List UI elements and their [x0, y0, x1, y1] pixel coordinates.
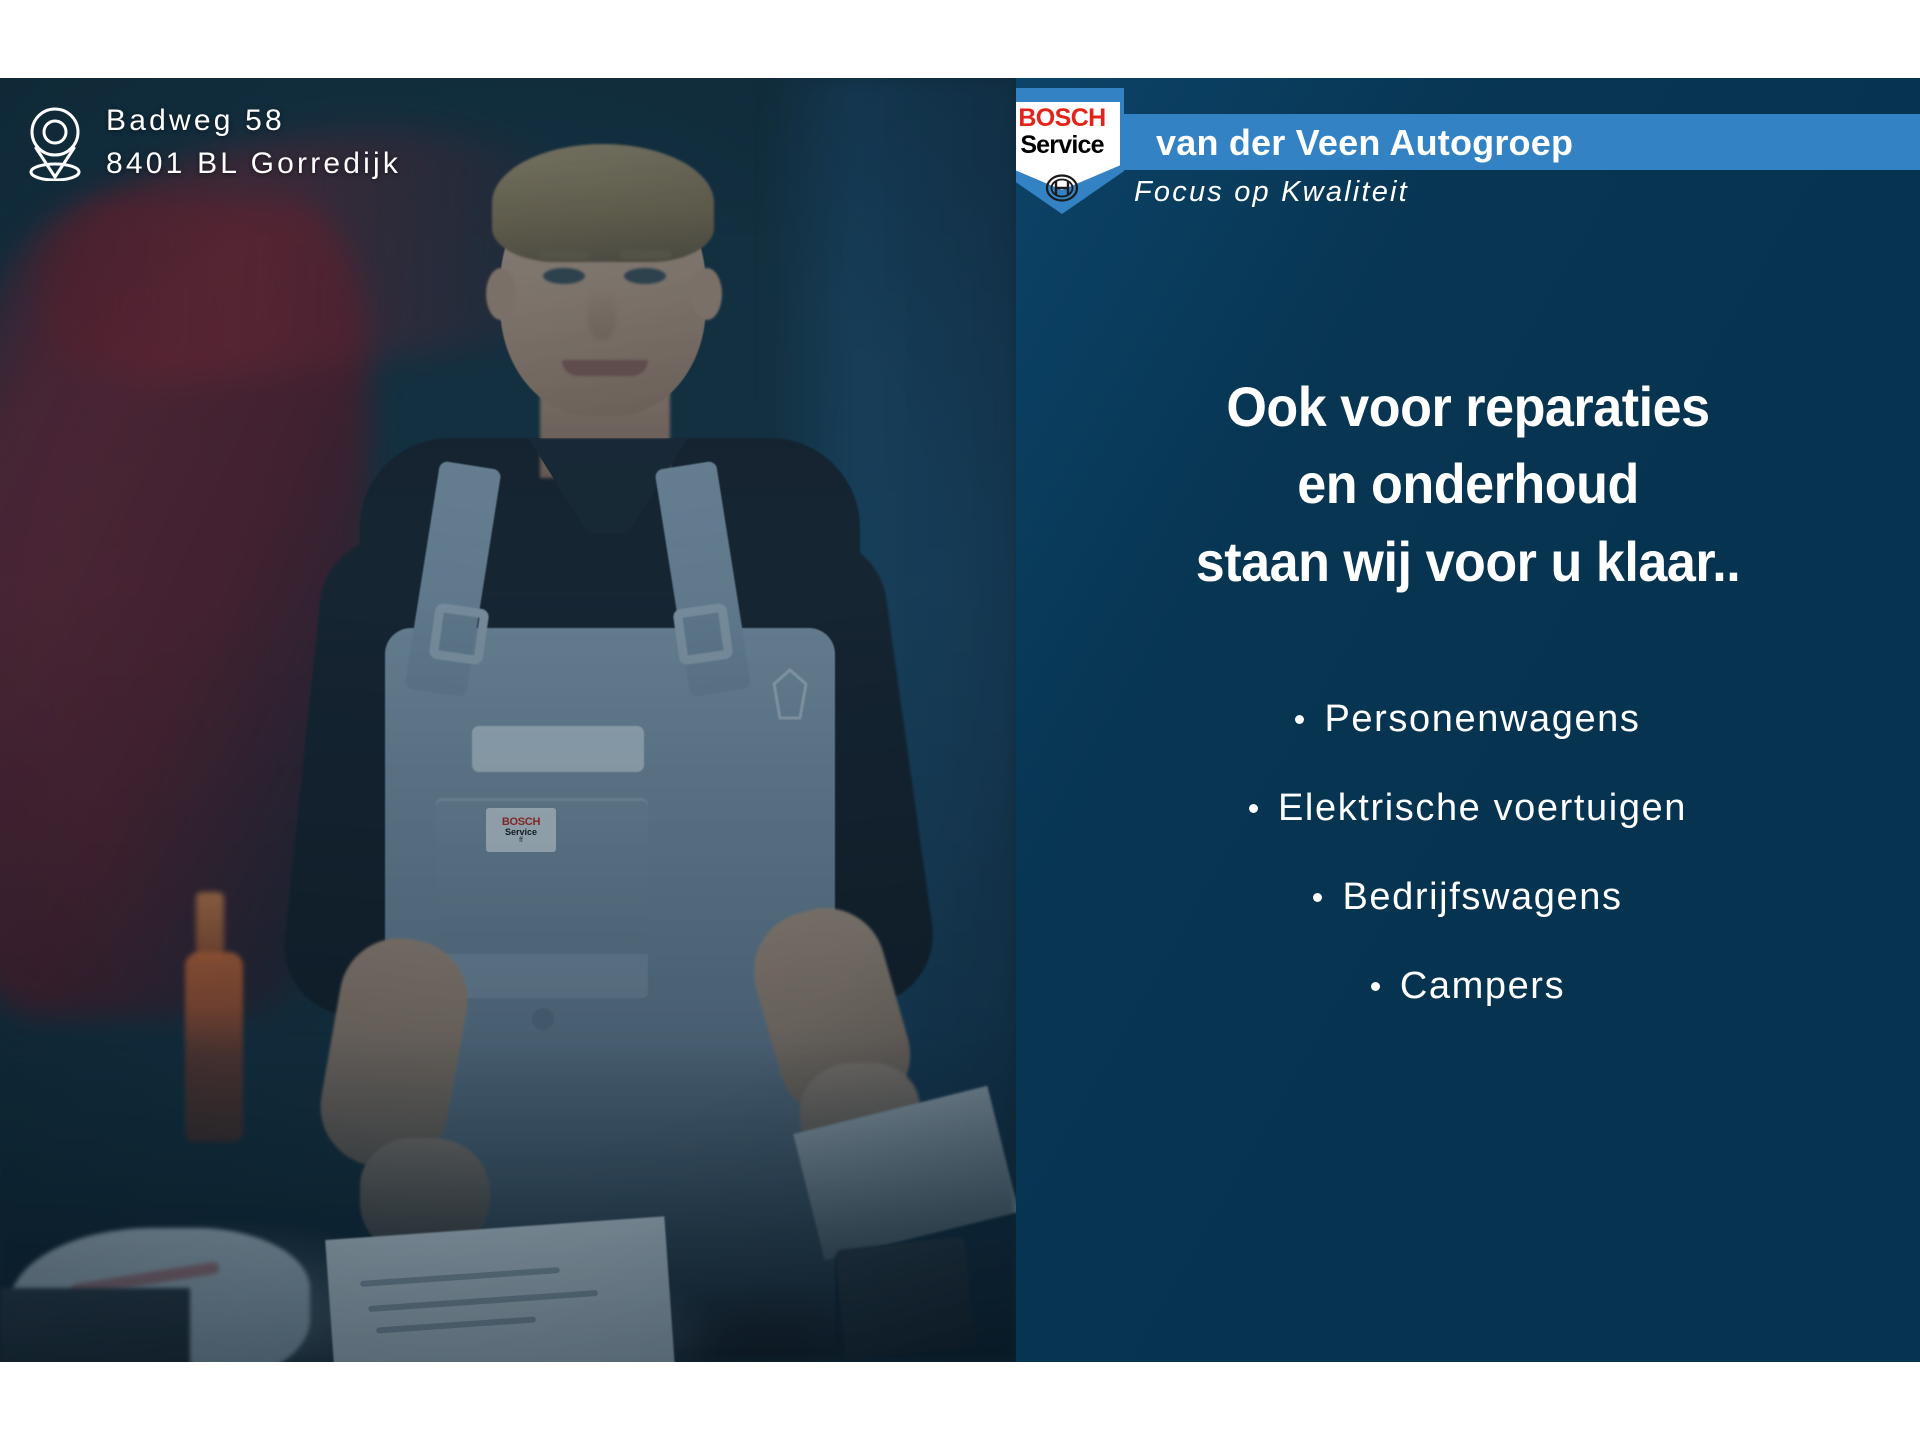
list-item: Personenwagens [1295, 698, 1640, 741]
slide-canvas: BOSCH Service ff [0, 78, 1920, 1362]
bosch-armature-icon [1045, 174, 1079, 202]
service-wordmark: Service [1020, 132, 1103, 158]
services-list: Personenwagens Elektrische voertuigen Be… [1016, 698, 1920, 1008]
headline-block: Ook voor reparaties en onderhoud staan w… [1048, 368, 1889, 600]
list-item: Elektrische voertuigen [1249, 787, 1687, 830]
company-tagline: Focus op Kwaliteit [1134, 176, 1409, 209]
headline-line-3: staan wij voor u klaar.. [1048, 523, 1889, 600]
bosch-wordmark: BOSCH [1018, 106, 1105, 131]
company-name: van der Veen Autogroep [1156, 118, 1573, 168]
bullet-dot-icon [1295, 715, 1304, 724]
bullet-dot-icon [1249, 804, 1258, 813]
brand-lockup: BOSCH Service van der Veen Autogroep Foc… [1016, 88, 1920, 208]
photo-blue-tint [0, 78, 1016, 1362]
address-street: Badweg 58 [106, 100, 401, 143]
bosch-service-logo: BOSCH Service [1016, 88, 1124, 214]
service-label: Personenwagens [1324, 698, 1640, 741]
location-address-overlay: Badweg 58 8401 BL Gorredijk [26, 100, 401, 185]
service-label: Campers [1400, 965, 1565, 1008]
list-item: Campers [1371, 965, 1565, 1008]
address-text-block: Badweg 58 8401 BL Gorredijk [106, 100, 401, 185]
bullet-dot-icon [1313, 893, 1322, 902]
bullet-dot-icon [1371, 982, 1380, 991]
map-pin-icon [26, 105, 84, 181]
service-label: Bedrijfswagens [1342, 876, 1622, 919]
headline-line-2: en onderhoud [1048, 445, 1889, 522]
content-panel: BOSCH Service van der Veen Autogroep Foc… [1016, 78, 1920, 1362]
advertisement-slide: BOSCH Service ff [0, 0, 1920, 1440]
garage-photo-panel: BOSCH Service ff [0, 78, 1016, 1362]
address-city: 8401 BL Gorredijk [106, 143, 401, 186]
service-label: Elektrische voertuigen [1278, 787, 1687, 830]
list-item: Bedrijfswagens [1313, 876, 1622, 919]
headline-line-1: Ook voor reparaties [1048, 368, 1889, 445]
